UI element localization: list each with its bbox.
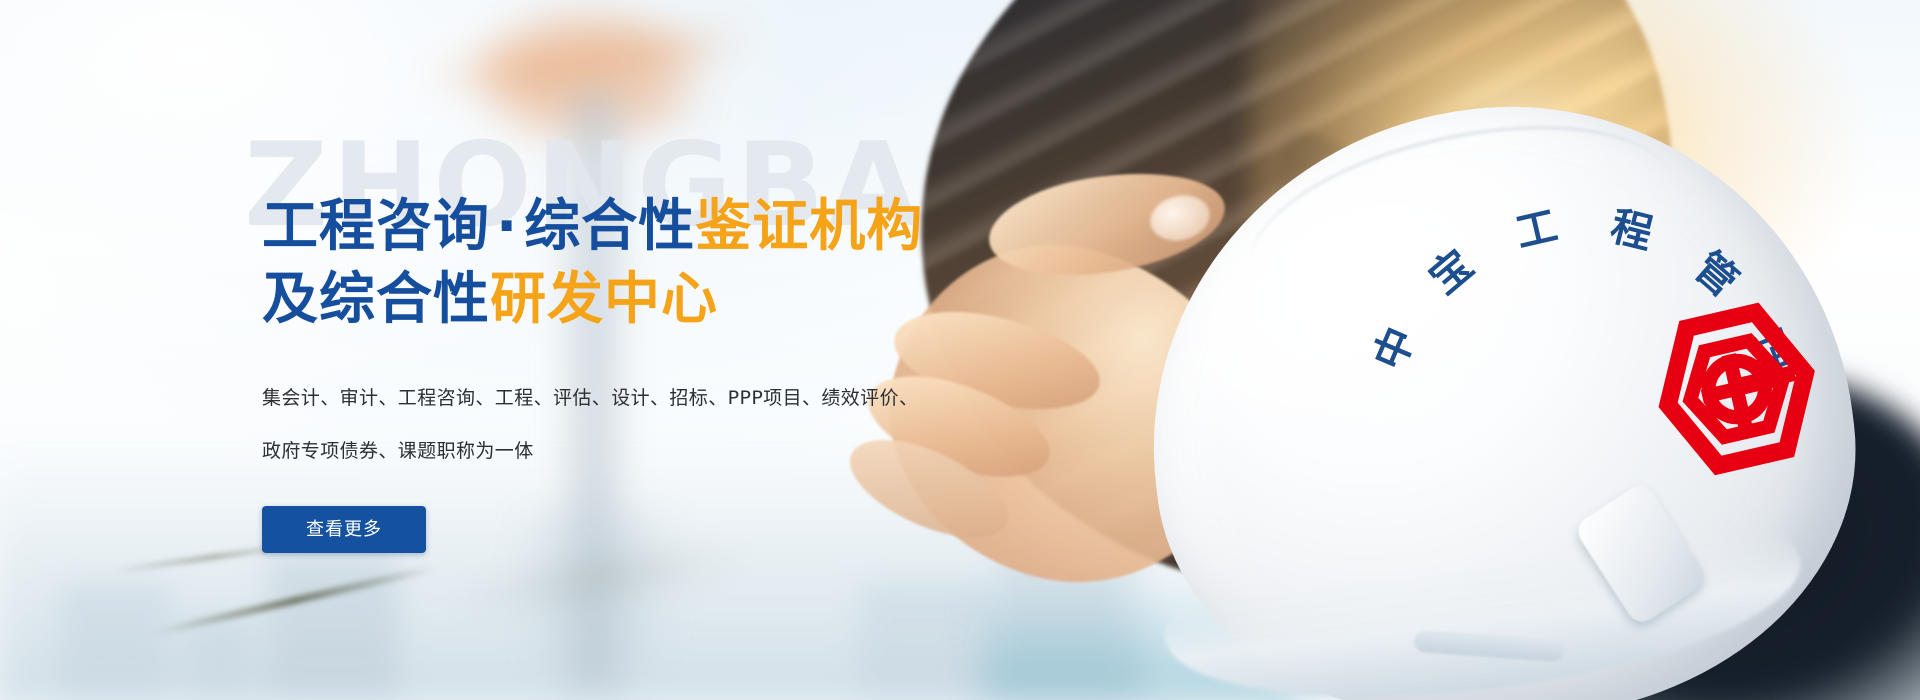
headline-line2-part1: 及综合性 (262, 267, 490, 332)
headline-line1-highlight: 鉴证机构 (695, 194, 923, 259)
view-more-button[interactable]: 查看更多 (262, 506, 426, 553)
helmet-brim (1154, 471, 1811, 700)
headline-line-1: 工程咨询·综合性鉴证机构 (262, 190, 1092, 263)
hero-banner: ZHONGBAO 中宝工程管理 (0, 0, 1920, 700)
headline-separator: · (490, 194, 524, 259)
zhongbao-hexagon-logo (1631, 283, 1842, 494)
skyline-block (268, 552, 398, 700)
banner-content: 工程咨询·综合性鉴证机构 及综合性研发中心 集会计、审计、工程咨询、工程、评估、… (262, 190, 1092, 553)
headline-line2-highlight: 研发中心 (490, 267, 718, 332)
banner-description: 集会计、审计、工程咨询、工程、评估、设计、招标、PPP项目、绩效评价、 政府专项… (262, 372, 1092, 478)
headline-line1-part1: 工程咨询 (262, 194, 490, 259)
headline-line1-part2: 综合性 (524, 194, 695, 259)
skyline-block (60, 582, 170, 700)
headline-line-2: 及综合性研发中心 (262, 263, 1092, 336)
description-line-2: 政府专项债券、课题职称为一体 (262, 425, 1092, 478)
description-line-1: 集会计、审计、工程咨询、工程、评估、设计、招标、PPP项目、绩效评价、 (262, 372, 1092, 425)
